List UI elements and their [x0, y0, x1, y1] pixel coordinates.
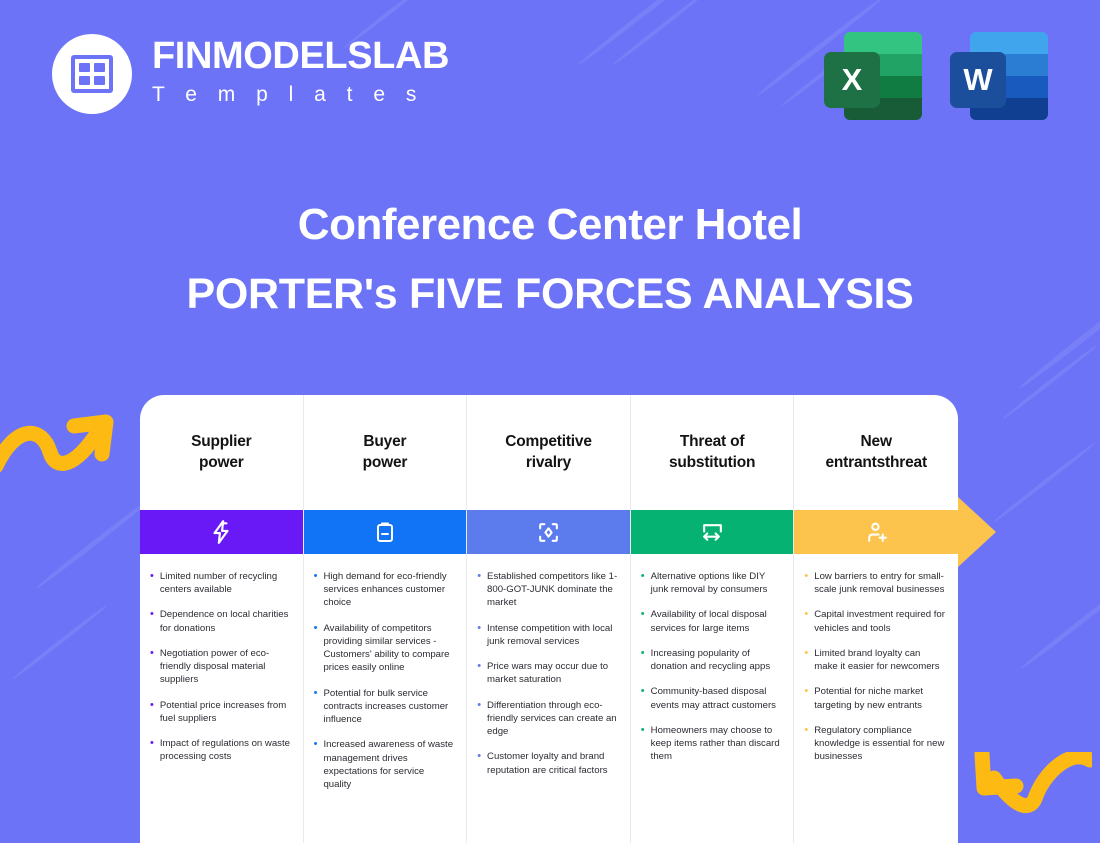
list-item-text: Potential price increases from fuel supp… — [160, 699, 291, 725]
bullet-dot-icon: • — [477, 699, 481, 739]
list-item-text: Potential for bulk service contracts inc… — [323, 687, 454, 727]
force-bullet-list: • Alternative options like DIY junk remo… — [631, 554, 794, 786]
excel-icon-letter: X — [824, 52, 880, 108]
list-item: • Limited number of recycling centers av… — [150, 570, 291, 596]
exchange-arrows-icon — [700, 520, 725, 545]
list-item-text: Potential for niche market targeting by … — [814, 685, 946, 711]
list-item-text: Intense competition with local junk remo… — [487, 622, 618, 648]
list-item: • Low barriers to entry for small-scale … — [804, 570, 946, 596]
squiggle-arrow-down-left-icon — [962, 752, 1092, 837]
bullet-dot-icon: • — [314, 738, 318, 791]
list-item: •Availability of local disposal services… — [641, 608, 782, 634]
list-item-text: Limited brand loyalty can make it easier… — [814, 647, 946, 673]
list-item: • High demand for eco-friendly services … — [314, 570, 455, 610]
force-column-header: Newentrantsthreat — [794, 395, 958, 510]
list-item-text: Negotiation power of eco-friendly dispos… — [160, 647, 291, 687]
list-item-text: Low barriers to entry for small-scale ju… — [814, 570, 946, 596]
force-column-header: Supplierpower — [140, 395, 303, 510]
list-item-text: Customer loyalty and brand reputation ar… — [487, 750, 618, 776]
brush-stroke — [1019, 574, 1100, 670]
bullet-dot-icon: • — [804, 608, 808, 634]
list-item-text: Dependence on local charities for donati… — [160, 608, 291, 634]
bullet-dot-icon: • — [477, 622, 481, 648]
list-item: •Customer loyalty and brand reputation a… — [477, 750, 618, 776]
list-item: •Homeowners may choose to keep items rat… — [641, 724, 782, 764]
office-icons: X W — [824, 28, 1048, 120]
bullet-dot-icon: • — [641, 724, 645, 764]
add-person-icon — [864, 520, 889, 545]
list-item: •Limited brand loyalty can make it easie… — [804, 647, 946, 673]
list-item: •Potential for bulk service contracts in… — [314, 687, 455, 727]
list-item: •Differentiation through eco-friendly se… — [477, 699, 618, 739]
force-column-header: Competitiverivalry — [467, 395, 630, 510]
bullet-dot-icon: • — [477, 570, 481, 610]
list-item-text: Impact of regulations on waste processin… — [160, 737, 291, 763]
bullet-dot-icon: • — [641, 608, 645, 634]
page-title: Conference Center Hotel — [0, 196, 1100, 253]
grid-squares-icon — [71, 55, 113, 93]
bullet-dot-icon: • — [314, 622, 318, 675]
force-header-line-1: Threat of — [669, 432, 755, 453]
brand-name: FINMODELSLAB — [152, 37, 449, 77]
list-item: •Intense competition with local junk rem… — [477, 622, 618, 648]
bullet-dot-icon: • — [641, 685, 645, 711]
list-item-text: Availability of competitors providing si… — [323, 622, 454, 675]
force-bullet-list: •Established competitors like 1-800-GOT-… — [467, 554, 630, 799]
bullet-dot-icon: • — [150, 608, 154, 634]
list-item-text: High demand for eco-friendly services en… — [323, 570, 454, 610]
list-item: •Increasing popularity of donation and r… — [641, 647, 782, 673]
list-item-text: Established competitors like 1-800-GOT-J… — [487, 570, 618, 610]
bullet-dot-icon: • — [150, 699, 154, 725]
force-header-line-1: Competitive — [505, 432, 592, 453]
bullet-dot-icon: • — [314, 570, 318, 610]
force-color-band — [794, 510, 958, 554]
bullet-dot-icon: • — [150, 570, 154, 596]
force-bullet-list: • Low barriers to entry for small-scale … — [794, 554, 958, 786]
bullet-dot-icon: • — [804, 570, 808, 596]
brush-stroke — [993, 440, 1098, 523]
list-item: •Price wars may occur due to market satu… — [477, 660, 618, 686]
force-header-line-2: power — [191, 453, 251, 474]
forces-grid: Supplierpower• Limited number of recycli… — [140, 395, 958, 843]
list-item-text: Limited number of recycling centers avai… — [160, 570, 291, 596]
force-bullet-list: • High demand for eco-friendly services … — [304, 554, 467, 813]
squiggle-arrow-up-right-icon — [0, 404, 124, 484]
force-column: Competitiverivalry•Established competito… — [467, 395, 631, 843]
excel-icon: X — [824, 28, 922, 120]
force-header-line-1: Buyer — [363, 432, 408, 453]
list-item: • Alternative options like DIY junk remo… — [641, 570, 782, 596]
list-item-text: Increasing popularity of donation and re… — [651, 647, 782, 673]
force-header-line-1: Supplier — [191, 432, 251, 453]
force-header-line-2: rivalry — [505, 453, 592, 474]
brush-stroke — [11, 603, 108, 680]
bullet-dot-icon: • — [641, 647, 645, 673]
list-item: •Availability of competitors providing s… — [314, 622, 455, 675]
force-header-line-2: entrantsthreat — [825, 453, 926, 474]
brand-subtitle: T e m p l a t e s — [152, 79, 449, 111]
brand-logo: FINMODELSLAB T e m p l a t e s — [52, 34, 449, 114]
brush-stroke — [34, 494, 155, 590]
bullet-dot-icon: • — [641, 570, 645, 596]
bullet-dot-icon: • — [150, 647, 154, 687]
force-color-band — [140, 510, 303, 554]
porters-five-forces-card: Supplierpower• Limited number of recycli… — [140, 395, 958, 843]
list-item-text: Price wars may occur due to market satur… — [487, 660, 618, 686]
list-item: •Capital investment required for vehicle… — [804, 608, 946, 634]
force-column: Threat ofsubstitution• Alternative optio… — [631, 395, 795, 843]
word-icon: W — [950, 28, 1048, 120]
list-item-text: Differentiation through eco-friendly ser… — [487, 699, 618, 739]
list-item-text: Increased awareness of waste management … — [323, 738, 454, 791]
force-color-band — [304, 510, 467, 554]
lightning-bolt-icon — [208, 519, 234, 545]
force-header-line-2: substitution — [669, 453, 755, 474]
list-item-text: Homeowners may choose to keep items rath… — [651, 724, 782, 764]
force-column-header: Buyerpower — [304, 395, 467, 510]
list-item: •Community-based disposal events may att… — [641, 685, 782, 711]
force-color-band — [631, 510, 794, 554]
list-item: •Potential for niche market targeting by… — [804, 685, 946, 711]
force-column: Supplierpower• Limited number of recycli… — [140, 395, 304, 843]
clipboard-icon — [373, 520, 397, 544]
force-column: Newentrantsthreat• Low barriers to entry… — [794, 395, 958, 843]
logo-badge — [52, 34, 132, 114]
force-color-band — [467, 510, 630, 554]
list-item-text: Community-based disposal events may attr… — [651, 685, 782, 711]
list-item: •Dependence on local charities for donat… — [150, 608, 291, 634]
bullet-dot-icon: • — [804, 685, 808, 711]
force-header-line-2: power — [363, 453, 408, 474]
brush-stroke — [1001, 343, 1098, 420]
bullet-dot-icon: • — [477, 660, 481, 686]
force-column: Buyerpower• High demand for eco-friendly… — [304, 395, 468, 843]
bullet-dot-icon: • — [804, 647, 808, 673]
focus-target-icon — [536, 520, 561, 545]
list-item: •Negotiation power of eco-friendly dispo… — [150, 647, 291, 687]
list-item-text: Regulatory compliance knowledge is essen… — [814, 724, 946, 764]
list-item-text: Alternative options like DIY junk remova… — [651, 570, 782, 596]
word-icon-letter: W — [950, 52, 1006, 108]
poster-canvas: FINMODELSLAB T e m p l a t e s X — [0, 0, 1100, 843]
list-item-text: Capital investment required for vehicles… — [814, 608, 946, 634]
force-column-header: Threat ofsubstitution — [631, 395, 794, 510]
list-item: •Established competitors like 1-800-GOT-… — [477, 570, 618, 610]
title-block: Conference Center Hotel PORTER's FIVE FO… — [0, 196, 1100, 323]
list-item: •Increased awareness of waste management… — [314, 738, 455, 791]
list-item: •Regulatory compliance knowledge is esse… — [804, 724, 946, 764]
bullet-dot-icon: • — [804, 724, 808, 764]
force-bullet-list: • Limited number of recycling centers av… — [140, 554, 303, 786]
list-item: •Potential price increases from fuel sup… — [150, 699, 291, 725]
list-item-text: Availability of local disposal services … — [651, 608, 782, 634]
bullet-dot-icon: • — [477, 750, 481, 776]
bullet-dot-icon: • — [150, 737, 154, 763]
force-header-line-1: New — [825, 432, 926, 453]
bullet-dot-icon: • — [314, 687, 318, 727]
page-subtitle: PORTER's FIVE FORCES ANALYSIS — [0, 267, 1100, 323]
list-item: •Impact of regulations on waste processi… — [150, 737, 291, 763]
header: FINMODELSLAB T e m p l a t e s X — [0, 0, 1100, 150]
